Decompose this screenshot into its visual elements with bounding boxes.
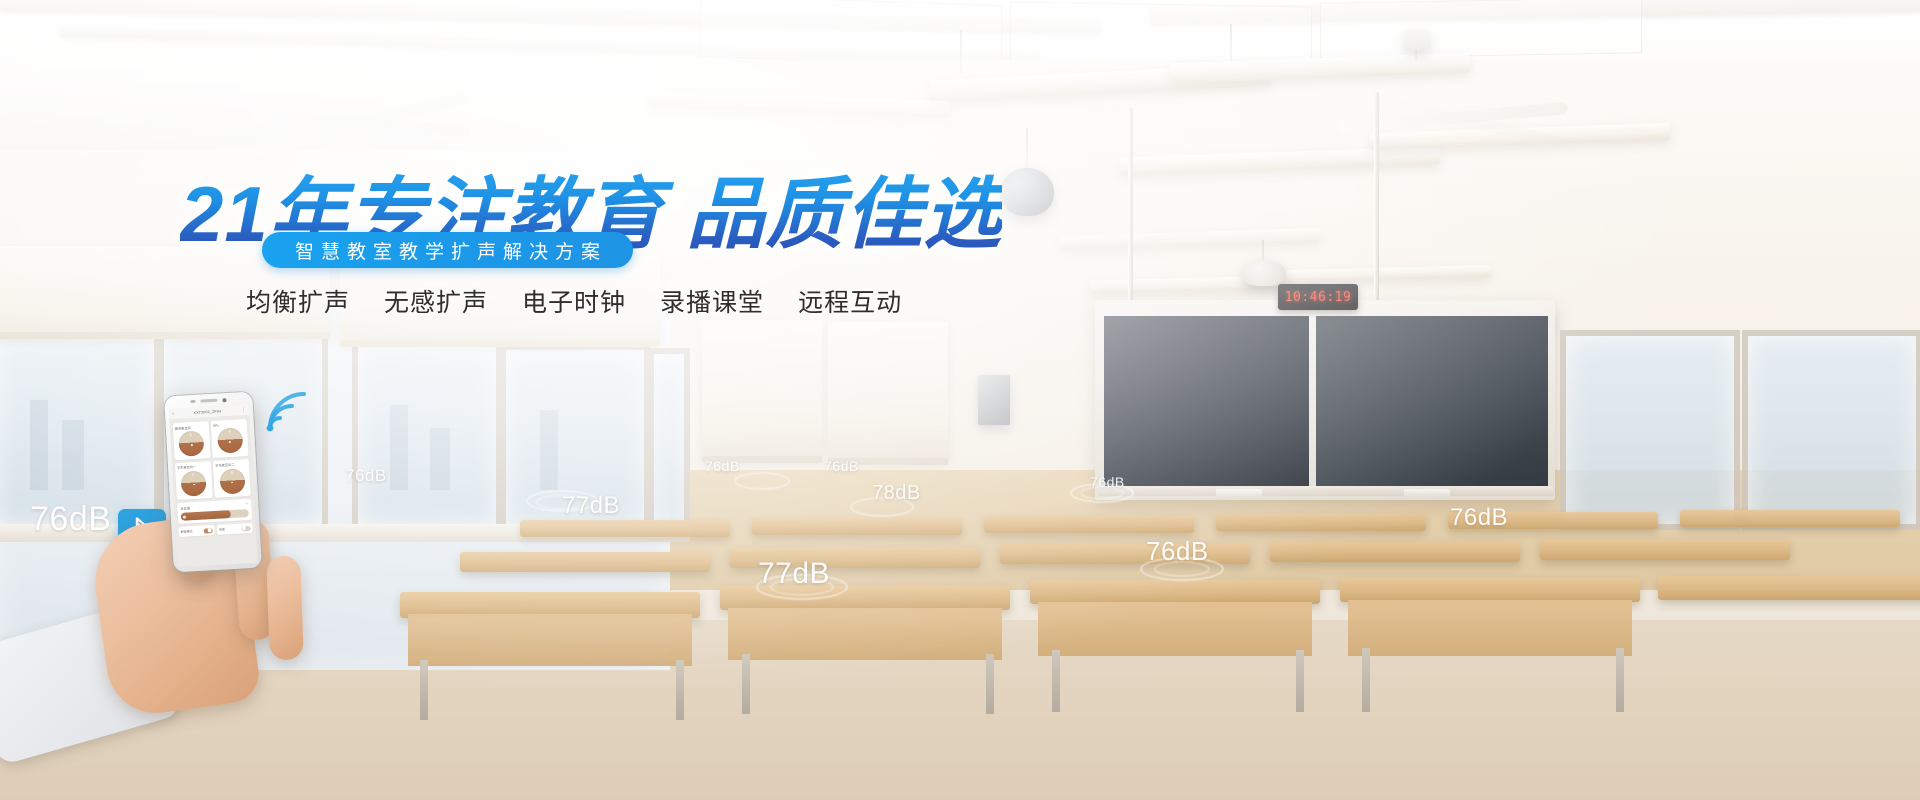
toggle-label: 场景 (219, 527, 225, 531)
roller-blind (828, 322, 948, 462)
feature-item: 均衡扩声 (246, 283, 350, 319)
ceiling-speaker-icon (1000, 168, 1054, 216)
student-desk (1216, 514, 1426, 531)
desk-front-panel (1038, 602, 1312, 656)
db-label: 76dB (345, 466, 387, 486)
student-desk (1540, 540, 1790, 560)
master-volume-fill (181, 510, 232, 521)
toggle-label: 静音模式 (181, 529, 193, 534)
toggle-switch[interactable] (203, 528, 212, 533)
blind-bottom-bar (0, 332, 330, 339)
board-control-panel (1404, 489, 1450, 498)
volume-dial[interactable] (179, 430, 205, 456)
earpiece-speaker (200, 399, 217, 402)
city-silhouette (62, 420, 84, 490)
wall-speaker-icon (978, 375, 1010, 425)
volume-dial[interactable] (217, 427, 243, 453)
master-volume-slider[interactable] (181, 509, 249, 521)
student-desk (1658, 576, 1920, 600)
speaker-hanger-wire (1026, 128, 1028, 170)
feature-item: 录播课堂 (660, 283, 764, 319)
db-label: 76dB (1090, 474, 1125, 490)
desk-leg (1362, 648, 1370, 712)
student-desk (1030, 580, 1320, 604)
feature-list: 均衡扩声无感扩声电子时钟录播课堂远程互动 (246, 283, 902, 319)
blackboard-right (1316, 316, 1548, 494)
blind-bottom-bar (340, 340, 660, 347)
zone-card[interactable]: 学生麦克风一 (175, 461, 213, 500)
desk-front-panel (408, 614, 692, 666)
db-label: 76dB (30, 500, 111, 539)
blackboard-tray (1098, 486, 1553, 496)
clock-time: 10:46:19 (1285, 290, 1352, 305)
hand-middle-finger (266, 555, 304, 660)
bottom-toggle-row: 静音模式场景 (175, 523, 256, 540)
desk-leg (986, 654, 994, 714)
desk-leg (1052, 650, 1060, 712)
city-silhouette (430, 428, 450, 490)
student-desk (460, 552, 710, 572)
student-desk (1340, 578, 1640, 602)
window-pane (1742, 330, 1920, 530)
dial-tick (231, 470, 232, 473)
db-label: 76dB (705, 458, 740, 474)
student-desk (1270, 542, 1520, 562)
dial-tick (229, 430, 230, 433)
board-control-panel (1216, 489, 1262, 498)
banner-stage: 10:46:19 (0, 0, 1920, 800)
desk-front-panel (728, 608, 1002, 660)
slider-knob[interactable] (183, 515, 186, 518)
student-desk (520, 520, 730, 537)
digital-clock: 10:46:19 (1278, 284, 1358, 310)
ceiling-speaker-icon (1242, 260, 1286, 286)
db-label: 77dB (562, 492, 620, 520)
db-label: 77dB (758, 557, 830, 591)
ceiling-panel (700, 0, 1002, 67)
city-silhouette (540, 410, 558, 490)
proximity-sensor-icon (222, 398, 226, 402)
roller-blind (702, 320, 822, 460)
master-volume-card[interactable]: 总音量 + (177, 498, 252, 524)
zone-card[interactable]: 学生麦克风二 (213, 458, 251, 497)
more-vertical-icon[interactable]: ⋮ (241, 408, 246, 413)
zone-label: 学生麦克风一 (177, 463, 209, 470)
smartphone[interactable]: ‹ XXT3002_ZF04 ⋮ 教师麦克风BPL学生麦克风一学生麦克风二 总音… (164, 392, 262, 573)
volume-dial[interactable] (181, 470, 207, 496)
toggle-switch[interactable] (241, 525, 250, 530)
light-hanger-wire (960, 30, 962, 74)
window-pane (648, 348, 690, 530)
zone-card-grid: 教师麦克风BPL学生麦克风一学生麦克风二 (169, 416, 253, 503)
student-desk (984, 516, 1194, 533)
ceiling-fan-icon (250, 118, 470, 132)
feature-item: 电子时钟 (522, 283, 626, 319)
blackboard-left (1104, 316, 1309, 494)
app-title: XXT3002_ZF04 (193, 409, 221, 415)
zone-card[interactable]: BPL (211, 419, 249, 458)
window-pane (1560, 330, 1740, 530)
desk-leg (420, 660, 428, 720)
zone-card[interactable]: 教师麦克风 (173, 421, 211, 460)
db-label: 76dB (824, 458, 859, 474)
subtitle-pill: 智慧教室教学扩声解决方案 (262, 232, 633, 268)
desk-leg (1616, 648, 1624, 712)
city-silhouette (390, 405, 408, 490)
ceiling-panel (1010, 1, 1312, 66)
feature-item: 远程互动 (798, 283, 902, 319)
desk-leg (676, 660, 684, 720)
wifi-signal-icon (262, 384, 318, 432)
desk-leg (742, 654, 750, 714)
volume-dial[interactable] (219, 468, 245, 494)
zone-label: 学生麦克风二 (215, 461, 247, 468)
student-desk (1680, 510, 1900, 527)
db-label: 78dB (872, 482, 921, 505)
master-volume-label: 总音量 (180, 505, 190, 511)
front-camera-icon (190, 400, 195, 403)
dial-tick (193, 473, 194, 476)
fan-motor-housing (1404, 30, 1430, 50)
chevron-left-icon[interactable]: ‹ (172, 412, 174, 417)
desk-leg (1296, 650, 1304, 712)
db-label: 76dB (1450, 504, 1508, 532)
subtitle-pill-label: 智慧教室教学扩声解决方案 (288, 237, 607, 264)
window-pane (352, 340, 502, 530)
ceiling-fan-icon (1338, 112, 1568, 126)
toggle-card[interactable]: 静音模式 (178, 525, 214, 537)
zone-label: 教师麦克风 (175, 424, 207, 431)
toggle-card[interactable]: 场景 (217, 523, 253, 535)
zone-label: BPL (213, 422, 245, 428)
student-desk (752, 518, 962, 535)
dial-tick (191, 433, 192, 436)
ceiling-panel (1320, 0, 1642, 59)
phone-screen[interactable]: ‹ XXT3002_ZF04 ⋮ 教师麦克风BPL学生麦克风一学生麦克风二 总音… (169, 405, 258, 567)
plus-icon[interactable]: + (246, 502, 249, 507)
city-silhouette (30, 400, 48, 490)
feature-item: 无感扩声 (384, 283, 488, 319)
desk-front-panel (1348, 600, 1632, 656)
db-label: 76dB (1146, 536, 1209, 567)
